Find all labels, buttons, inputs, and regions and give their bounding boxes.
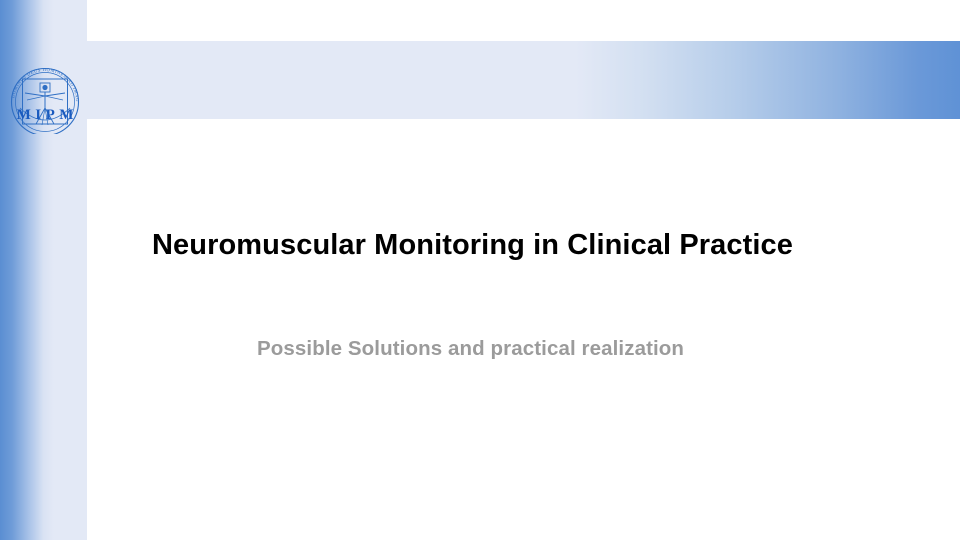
presentation-slide: DOMINUS DEUS HOMINEM AD IMAGINEM SUAM MI…	[0, 0, 960, 540]
slide-title: Neuromuscular Monitoring in Clinical Pra…	[152, 228, 892, 263]
mipm-wordmark: MIPM	[4, 108, 86, 123]
slide-subtitle: Possible Solutions and practical realiza…	[257, 337, 877, 362]
header-gradient-band	[87, 41, 960, 119]
mipm-logo: DOMINUS DEUS HOMINEM AD IMAGINEM SUAM MI…	[4, 36, 86, 134]
